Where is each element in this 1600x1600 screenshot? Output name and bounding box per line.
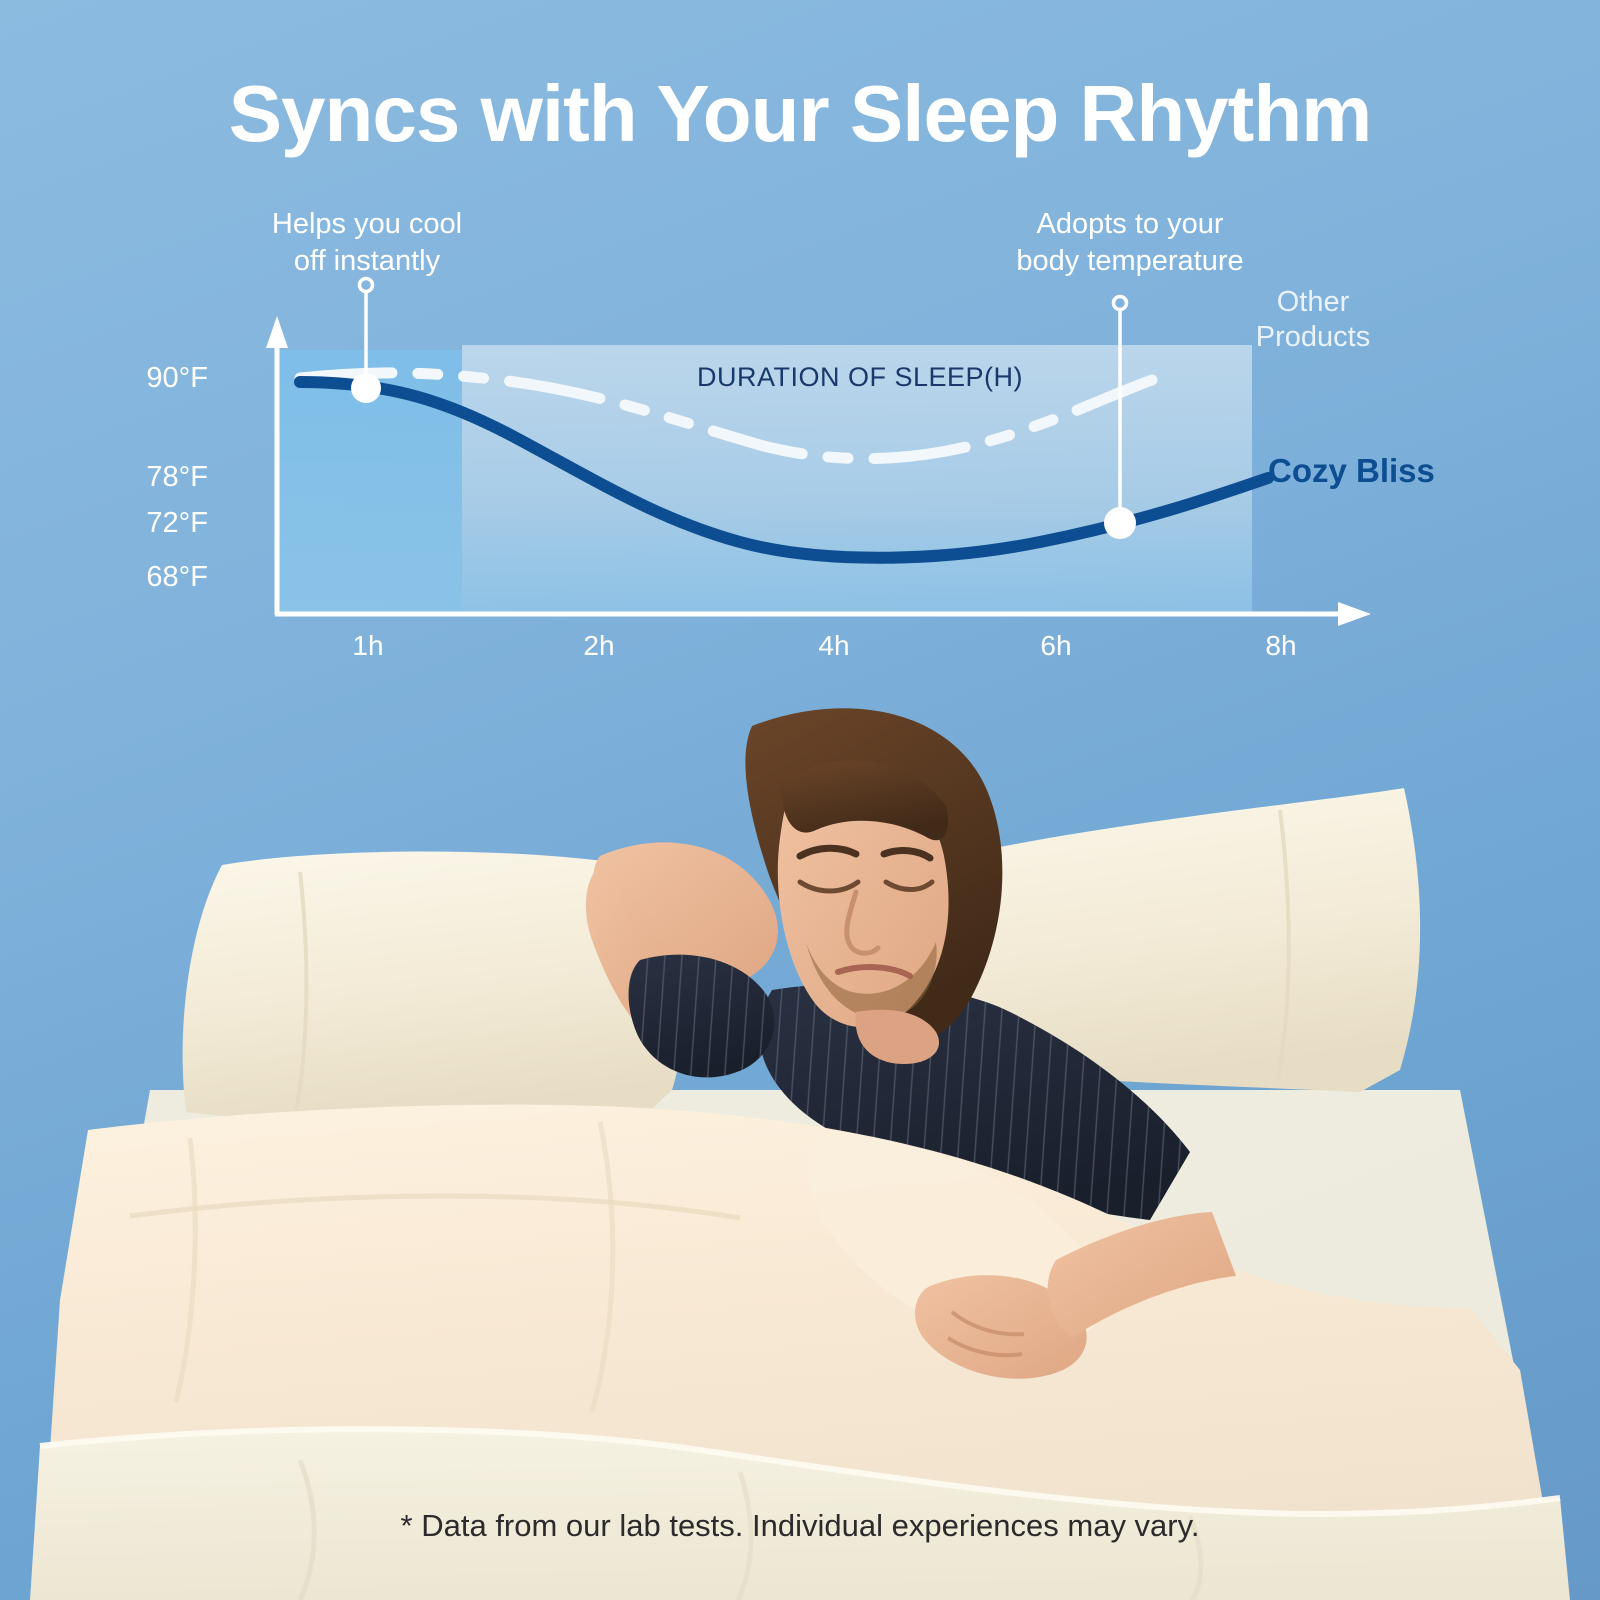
legend-other-line2: Products	[1228, 320, 1398, 355]
duration-of-sleep-label: DURATION OF SLEEP(H)	[697, 362, 1023, 393]
x-tick-3: 6h	[1016, 630, 1096, 662]
annotation-hollow-dot-right	[1114, 297, 1127, 310]
annotation-right-line2: body temperature	[1000, 243, 1260, 280]
photo-svg	[0, 660, 1600, 1600]
annotation-left-line2: off instantly	[252, 243, 482, 280]
footnote-disclaimer: * Data from our lab tests. Individual ex…	[0, 1508, 1600, 1544]
sleeping-man-photo	[0, 660, 1600, 1600]
annotation-point-right	[1104, 507, 1136, 539]
y-tick-2: 72°F	[118, 507, 208, 540]
annotation-right: Adopts to your body temperature	[1000, 206, 1260, 280]
annotation-left-line1: Helps you cool	[252, 206, 482, 243]
x-tick-1: 2h	[559, 630, 639, 662]
x-tick-0: 1h	[328, 630, 408, 662]
x-tick-4: 8h	[1241, 630, 1321, 662]
x-tick-2: 4h	[794, 630, 874, 662]
legend-other-products: Other Products	[1228, 285, 1398, 356]
page-title: Syncs with Your Sleep Rhythm	[0, 72, 1600, 156]
annotation-left: Helps you cool off instantly	[252, 206, 482, 280]
annotation-marker-left	[351, 279, 381, 404]
annotation-hollow-dot-left	[360, 279, 373, 292]
infographic-page: Syncs with Your Sleep Rhythm	[0, 0, 1600, 1600]
y-axis-arrow	[266, 316, 288, 348]
legend-cozy-bliss: Cozy Bliss	[1268, 452, 1435, 490]
x-axis-arrow	[1338, 602, 1371, 626]
y-tick-1: 78°F	[118, 461, 208, 494]
legend-other-line1: Other	[1228, 285, 1398, 320]
annotation-right-line1: Adopts to your	[1000, 206, 1260, 243]
y-tick-0: 90°F	[118, 362, 208, 395]
temperature-chart: Helps you cool off instantly Adopts to y…	[0, 190, 1600, 680]
chart-svg	[0, 190, 1600, 680]
y-tick-3: 68°F	[118, 561, 208, 594]
annotation-point-left	[351, 373, 381, 403]
